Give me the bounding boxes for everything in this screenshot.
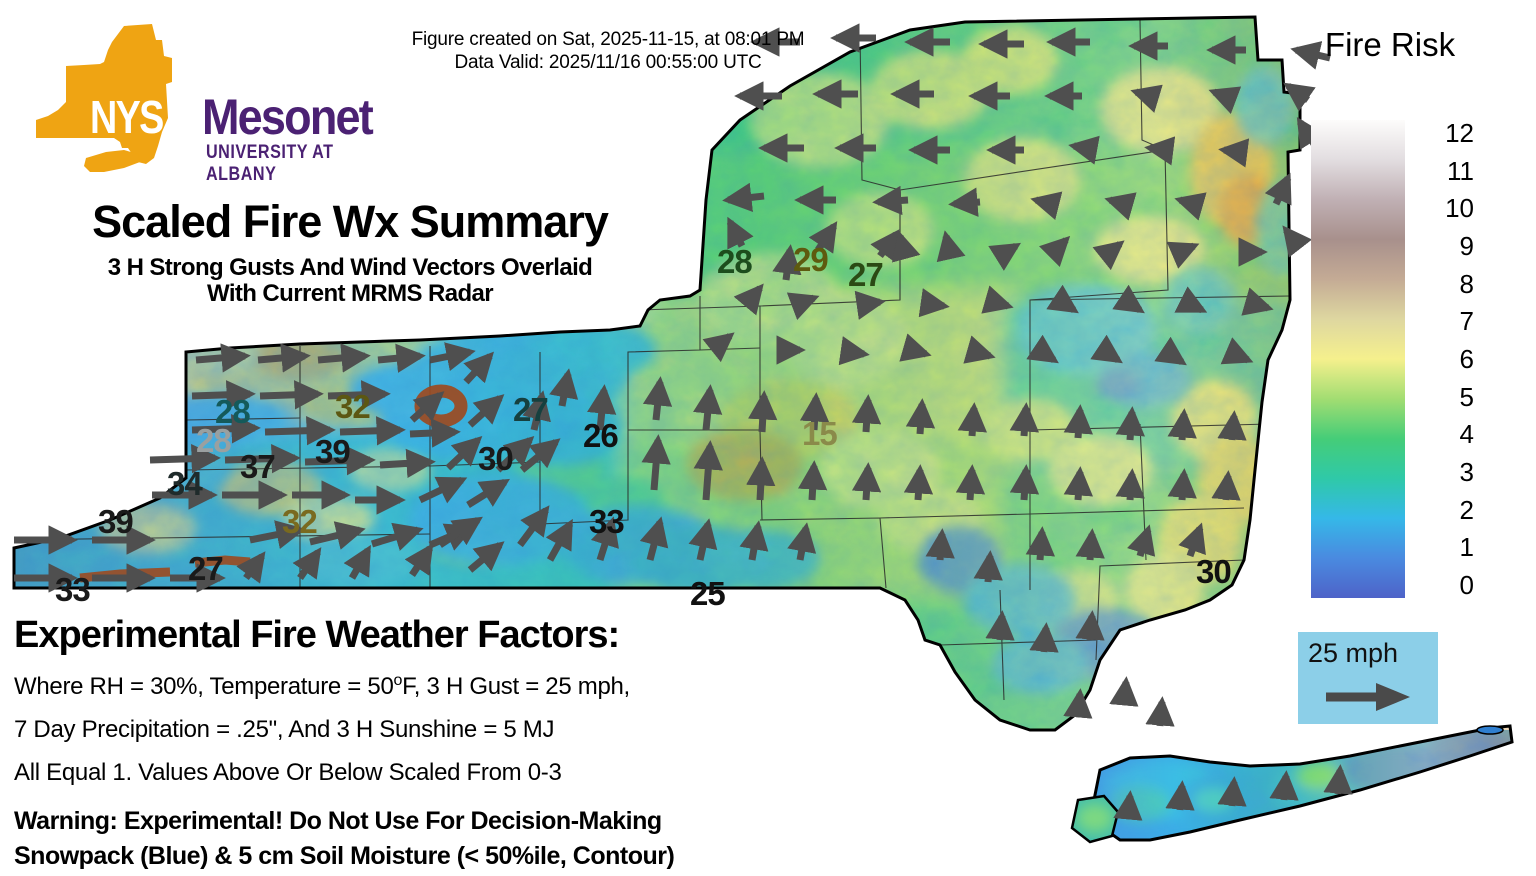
footer-line-2: 7 Day Precipitation = .25", And 3 H Suns…	[14, 716, 914, 744]
wind-key-arrow-icon	[1324, 680, 1414, 714]
colorbar-tick-3: 3	[1428, 459, 1474, 485]
colorbar-tick-7: 7	[1428, 308, 1474, 334]
colorbar-tick-11: 11	[1428, 158, 1474, 184]
footer-line-1-b: F, 3 H Gust = 25 mph,	[402, 673, 630, 700]
footer-line-3: All Equal 1. Values Above Or Below Scale…	[14, 759, 914, 787]
figure-created-text: Figure created on Sat, 2025-11-15, at 08…	[368, 28, 848, 51]
colorbar-tick-8: 8	[1428, 271, 1474, 297]
logo-nys-text: NYS	[90, 90, 163, 144]
gust-label: 25	[690, 577, 725, 610]
degree-symbol: o	[394, 672, 403, 689]
colorbar-title: Fire Risk	[1290, 26, 1490, 64]
gust-label: 33	[589, 505, 624, 538]
colorbar-tick-9: 9	[1428, 233, 1474, 259]
fire-risk-colorbar: Fire Risk 1211109876543210	[1290, 26, 1536, 626]
colorbar-tick-6: 6	[1428, 346, 1474, 372]
gust-label: 26	[583, 419, 618, 452]
colorbar-tick-labels: 1211109876543210	[1414, 120, 1474, 598]
footer-line-1-a: Where RH = 30%, Temperature = 50	[14, 673, 394, 700]
gust-label: 30	[1196, 555, 1231, 588]
gust-label: 28	[717, 245, 752, 278]
logo-mesonet-text: Mesonet	[202, 88, 372, 146]
gust-label: 39	[315, 435, 350, 468]
logo-university-text: UNIVERSITY AT ALBANY	[206, 142, 354, 186]
wind-key-label: 25 mph	[1308, 638, 1398, 669]
page-subtitle-1: 3 H Strong Gusts And Wind Vectors Overla…	[0, 254, 700, 282]
colorbar-tick-5: 5	[1428, 384, 1474, 410]
gust-label: 29	[793, 243, 828, 276]
gust-label: 32	[335, 390, 370, 423]
data-valid-text: Data Valid: 2025/11/16 00:55:00 UTC	[368, 51, 848, 74]
gust-label: 27	[848, 258, 883, 291]
gust-label: 27	[513, 393, 548, 426]
figure-timestamp-block: Figure created on Sat, 2025-11-15, at 08…	[368, 28, 848, 74]
gust-label: 37	[240, 450, 275, 483]
gust-label: 28	[196, 424, 231, 457]
colorbar-tick-4: 4	[1428, 421, 1474, 447]
warning-line-2: Snowpack (Blue) & 5 cm Soil Moisture (< …	[14, 842, 914, 871]
colorbar-gradient	[1311, 120, 1405, 598]
gust-label: 34	[167, 467, 202, 500]
wind-vector-key: 25 mph	[1298, 632, 1438, 724]
gust-label: 27	[188, 552, 223, 585]
page-subtitle-2: With Current MRMS Radar	[0, 280, 700, 308]
colorbar-tick-10: 10	[1428, 195, 1474, 221]
colorbar-tick-2: 2	[1428, 497, 1474, 523]
footer-notes: Experimental Fire Weather Factors: Where…	[14, 614, 914, 871]
gust-label: 32	[282, 505, 317, 538]
page-title: Scaled Fire Wx Summary	[0, 196, 700, 248]
nys-mesonet-logo: NYS Mesonet UNIVERSITY AT ALBANY	[20, 18, 380, 183]
colorbar-tick-1: 1	[1428, 534, 1474, 560]
footer-line-1: Where RH = 30%, Temperature = 50oF, 3 H …	[14, 672, 914, 701]
gust-label: 39	[98, 505, 133, 538]
warning-line-1: Warning: Experimental! Do Not Use For De…	[14, 807, 914, 836]
gust-label: 33	[55, 573, 90, 606]
footer-heading: Experimental Fire Weather Factors:	[14, 614, 914, 657]
gust-label: 15	[802, 417, 837, 450]
colorbar-tick-0: 0	[1428, 572, 1474, 598]
gust-label: 30	[478, 442, 513, 475]
colorbar-tick-12: 12	[1428, 120, 1474, 146]
